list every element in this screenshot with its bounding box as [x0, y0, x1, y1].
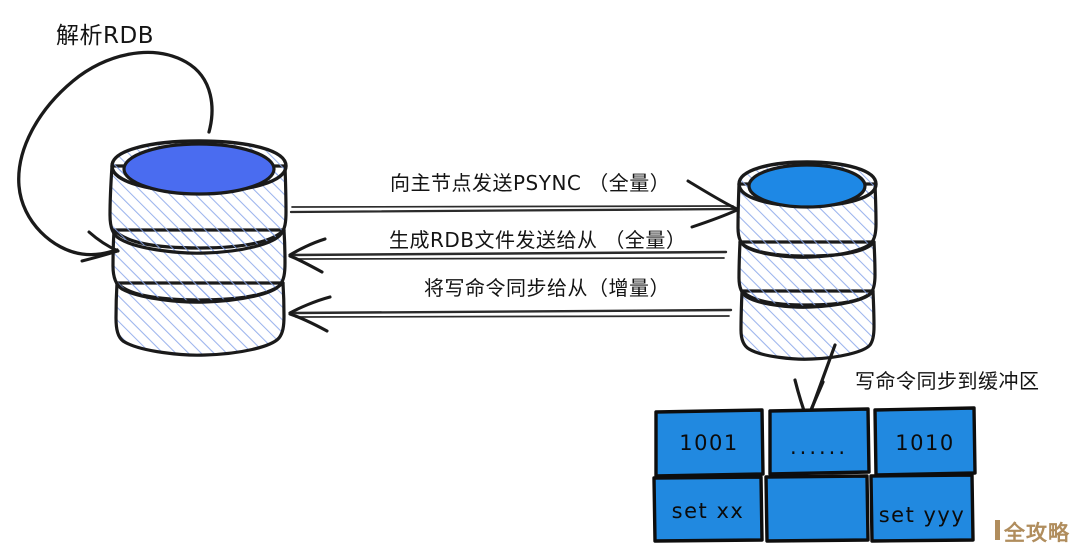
buffer-annotation-label: 写命令同步到缓冲区 [855, 365, 1040, 394]
message-arrow-write-commands [290, 297, 731, 331]
buffer-cell [766, 476, 868, 541]
buffer-cell-label: set yyy [879, 503, 966, 527]
buffer-cell-label: ...... [790, 435, 848, 459]
page-title: 解析RDB [56, 16, 154, 50]
diagram-canvas: 解析RDB 向主节点发送PSYNC （全量） 生成RDB文件发送给从 （全量） … [0, 0, 1080, 553]
message-label-write-commands: 将写命令同步给从（增量） [424, 272, 670, 301]
message-label-psync: 向主节点发送PSYNC （全量） [390, 167, 670, 196]
watermark: 全攻略 [1004, 517, 1070, 547]
slave-database-cylinder [110, 141, 286, 355]
master-database-cylinder [738, 162, 876, 359]
message-label-rdb-file: 生成RDB文件发送给从 （全量） [389, 224, 686, 253]
buffer-cell-label: 1010 [895, 431, 954, 455]
buffer-cell-label: set xx [672, 499, 745, 523]
buffer-cell-label: 1001 [679, 431, 738, 455]
